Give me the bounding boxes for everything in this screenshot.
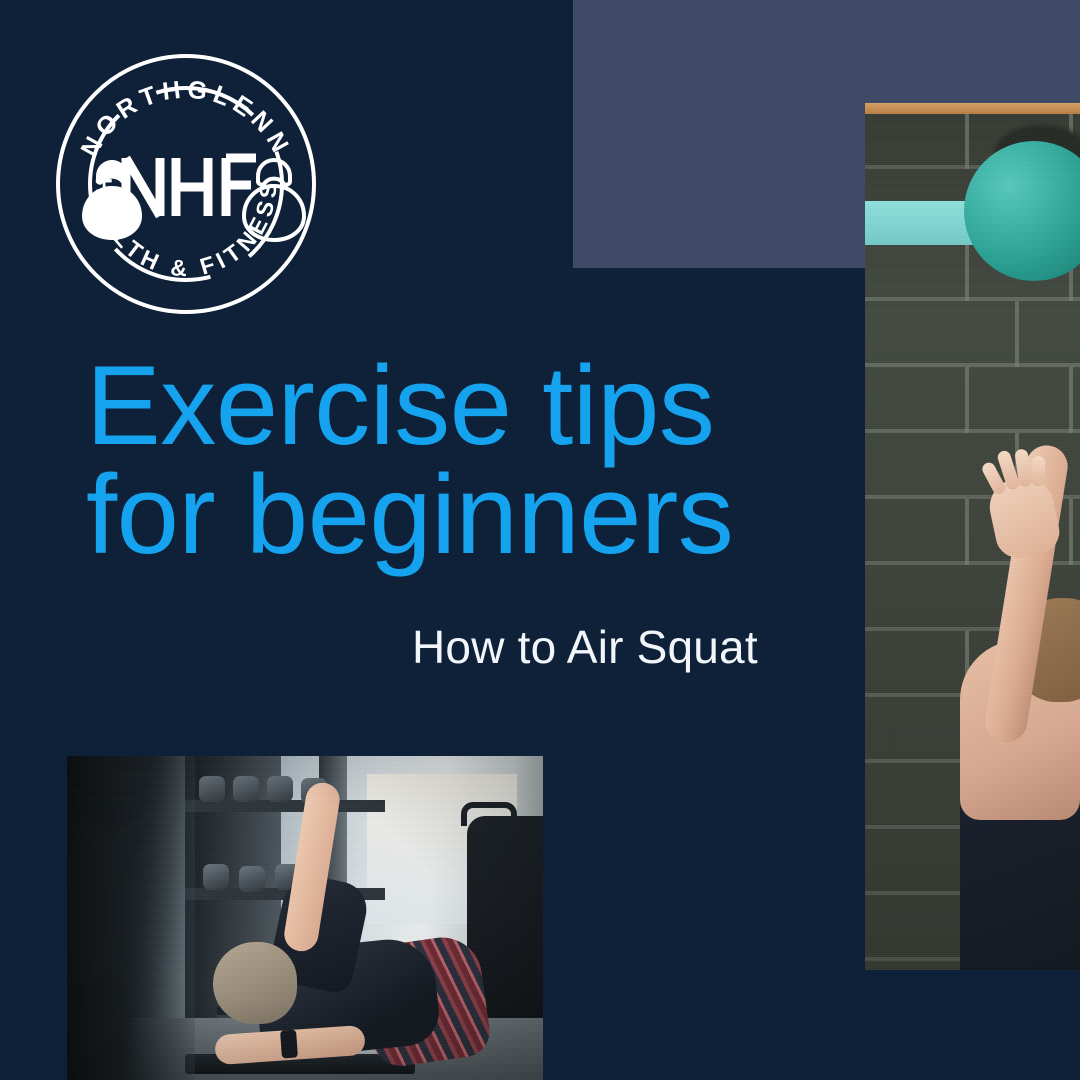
- wall-wood-trim: [865, 103, 1080, 114]
- page-subtitle: How to Air Squat: [412, 620, 758, 674]
- logo-monogram: [126, 158, 256, 216]
- social-post-canvas: NORTHGLENN HEALTH & FITNESS: [0, 0, 1080, 1080]
- gym-stretch-photo: [67, 756, 543, 1080]
- brand-logo[interactable]: NORTHGLENN HEALTH & FITNESS: [48, 46, 324, 322]
- photo-vignette: [67, 756, 543, 1080]
- wall-ball-photo: [865, 103, 1080, 970]
- page-title: Exercise tips for beginners: [86, 352, 866, 569]
